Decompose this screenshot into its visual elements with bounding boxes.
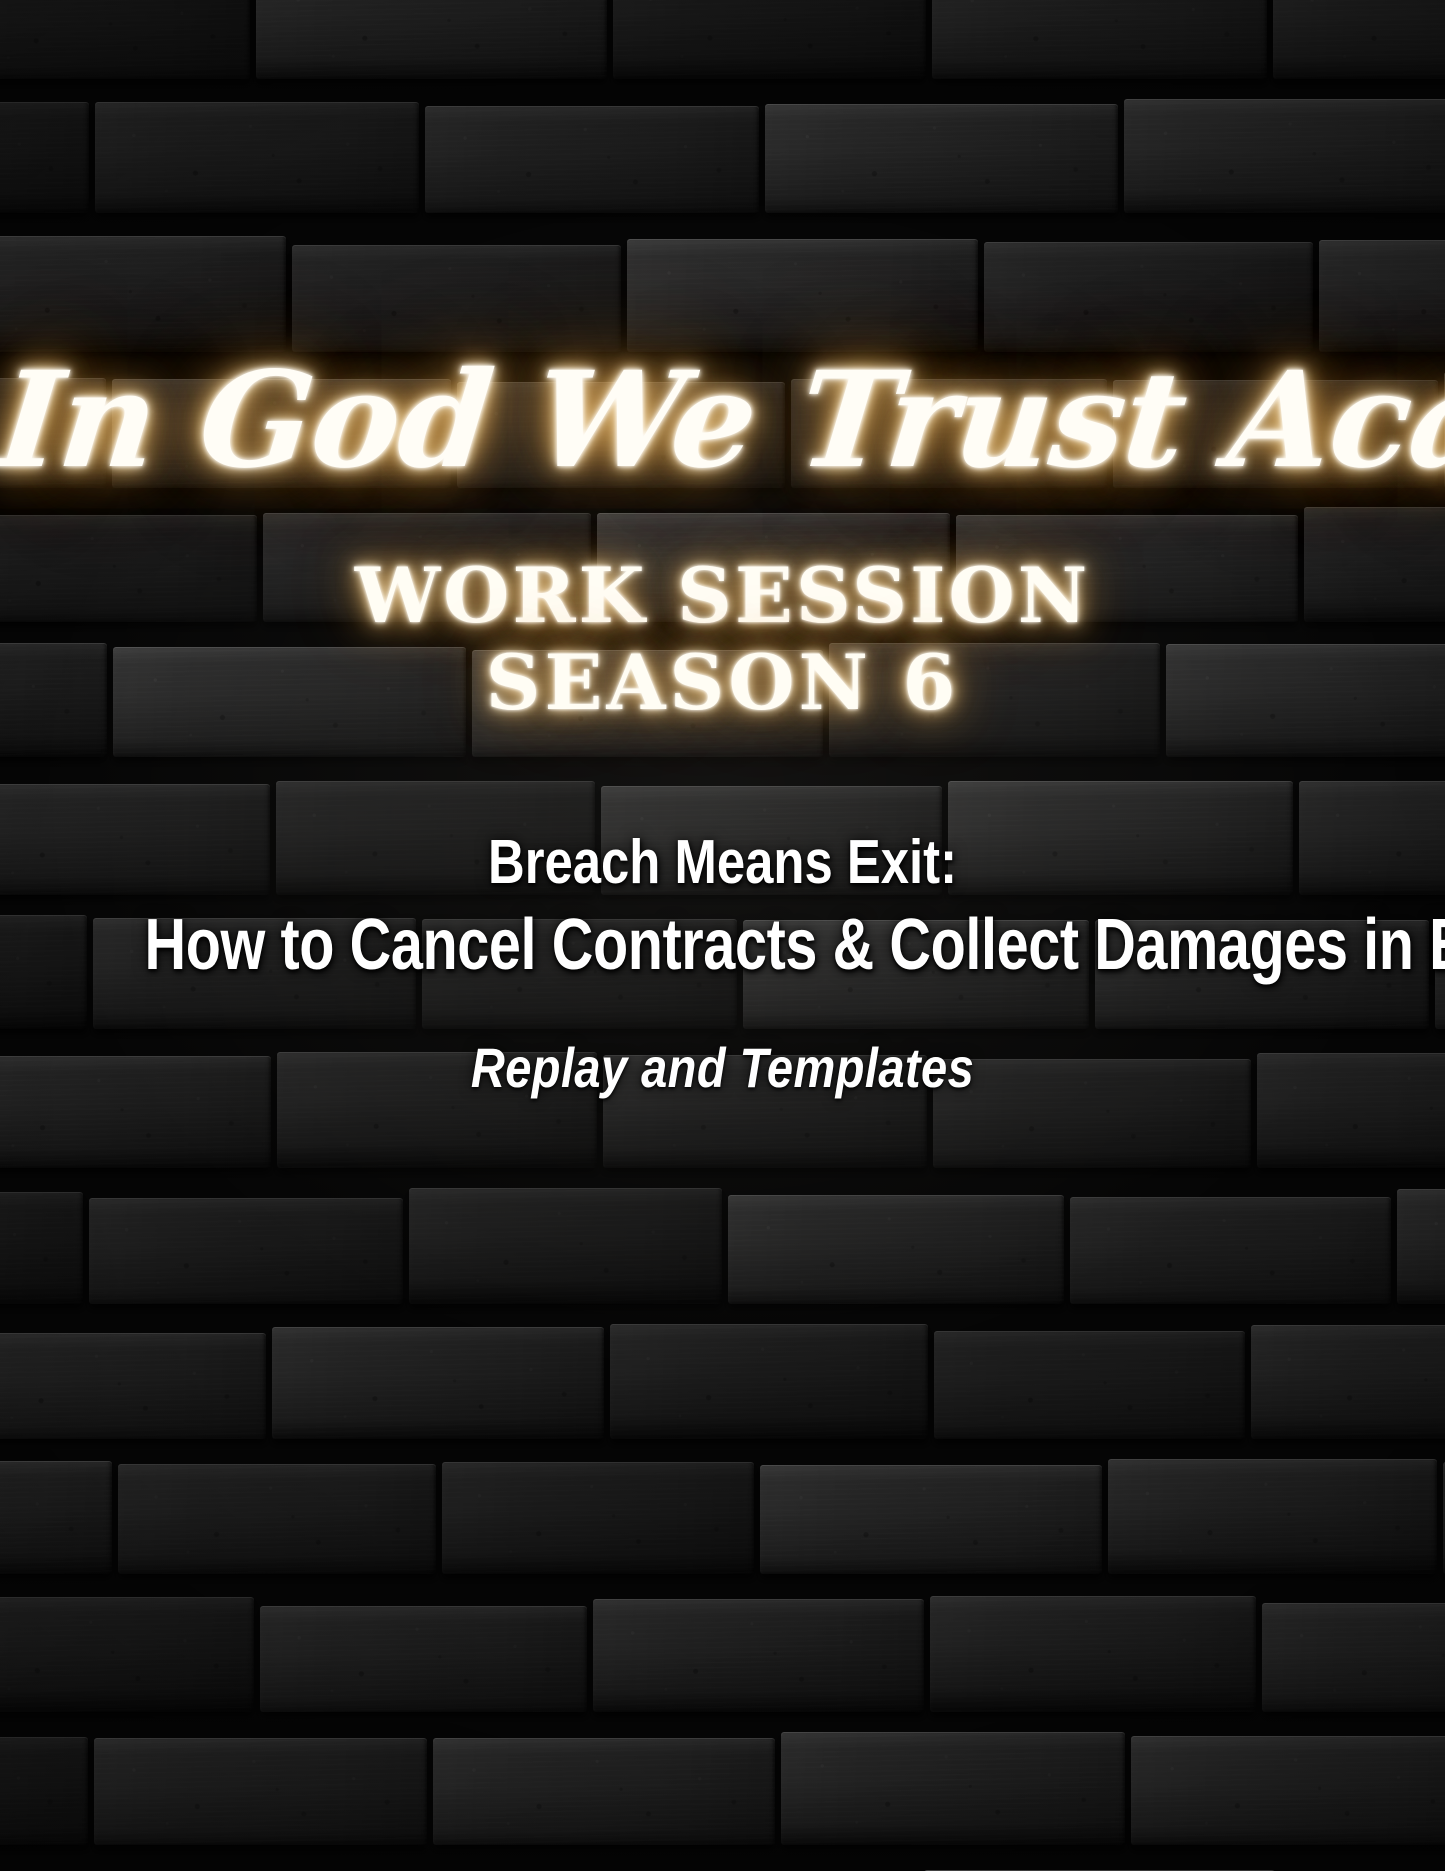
poster-content: In God We Trust Academy WORK SESSION SEA…	[0, 0, 1445, 1871]
poster-canvas: In God We Trust Academy WORK SESSION SEA…	[0, 0, 1445, 1871]
season-label: SEASON 6	[0, 640, 1445, 727]
headline-line-2: How to Cancel Contracts & Collect Damage…	[145, 907, 1301, 985]
headline-line-1: Breach Means Exit:	[130, 830, 1315, 895]
academy-neon-logo: In God We Trust Academy	[0, 352, 1445, 491]
work-session-label: WORK SESSION	[0, 553, 1445, 640]
headline-block: Breach Means Exit: How to Cancel Contrac…	[0, 830, 1445, 985]
session-neon-block: WORK SESSION SEASON 6	[0, 553, 1445, 726]
subtitle-text: Replay and Templates	[116, 1035, 1330, 1100]
